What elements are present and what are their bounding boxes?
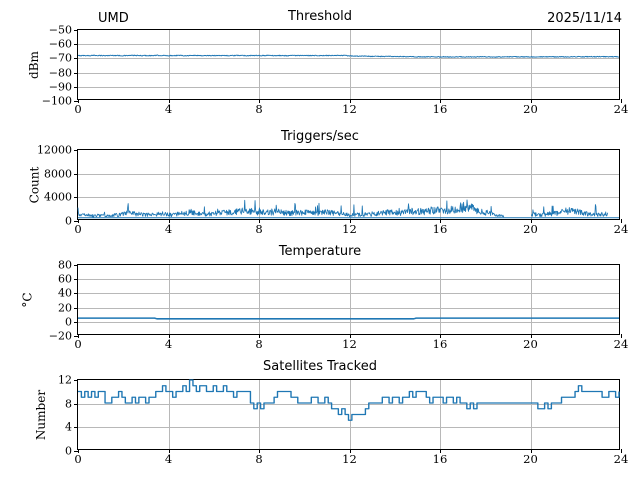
- x-tick-label: 24: [614, 224, 629, 236]
- x-tick-label: 16: [433, 339, 448, 351]
- y-tick-label: −50: [49, 25, 72, 36]
- x-tick-label: 4: [165, 104, 172, 116]
- y-tick-label: −20: [49, 331, 72, 342]
- panel-temperature: Temperature °C−2002040608004812162024: [0, 243, 640, 355]
- x-tick-label: 12: [342, 224, 357, 236]
- x-tick-label: 24: [614, 339, 629, 351]
- x-tick-label: 8: [255, 339, 262, 351]
- data-series: [78, 30, 619, 99]
- y-tick-label: 12000: [37, 145, 72, 156]
- y-axis-label: Count: [27, 166, 41, 203]
- y-tick-label: −70: [49, 53, 72, 64]
- x-tick-label: 0: [74, 224, 81, 236]
- y-tick-label: 4: [65, 422, 72, 433]
- x-tick-label: 20: [523, 104, 538, 116]
- x-tick-label: 4: [165, 454, 172, 466]
- x-tick-label: 12: [342, 454, 357, 466]
- x-tick-label: 4: [165, 339, 172, 351]
- y-tick-label: 12: [58, 375, 72, 386]
- y-tick-label: 8: [65, 398, 72, 409]
- panel-title: Satellites Tracked: [0, 358, 640, 375]
- x-tick-label: 8: [255, 224, 262, 236]
- plot-area: dBm−100−90−80−70−60−5004812162024: [77, 29, 620, 100]
- panel-title: Temperature: [0, 243, 640, 260]
- x-tick-label: 20: [523, 454, 538, 466]
- y-tick-label: 4000: [44, 192, 72, 203]
- y-tick-label: 0: [65, 316, 72, 327]
- y-tick-label: 20: [58, 302, 72, 313]
- x-tick-label: 24: [614, 104, 629, 116]
- x-tick-label: 8: [255, 454, 262, 466]
- x-tick-label: 16: [433, 104, 448, 116]
- data-series: [78, 380, 619, 449]
- x-tick-label: 8: [255, 104, 262, 116]
- x-tick-label: 12: [342, 104, 357, 116]
- x-tick-label: 16: [433, 224, 448, 236]
- y-tick-label: −60: [49, 39, 72, 50]
- y-tick-label: −100: [42, 96, 72, 107]
- x-tick-label: 0: [74, 454, 81, 466]
- y-tick-label: 0: [65, 216, 72, 227]
- data-series: [78, 150, 619, 219]
- x-tick-label: 0: [74, 104, 81, 116]
- y-tick-label: 80: [58, 260, 72, 271]
- y-axis-label: Number: [34, 389, 48, 439]
- x-tick-label: 20: [523, 224, 538, 236]
- plot-area: °C−2002040608004812162024: [77, 264, 620, 335]
- x-tick-label: 4: [165, 224, 172, 236]
- x-tick-label: 12: [342, 339, 357, 351]
- plot-area: Number0481204812162024: [77, 379, 620, 450]
- panel-title: Triggers/sec: [0, 128, 640, 145]
- y-tick-label: 40: [58, 288, 72, 299]
- y-tick-label: 0: [65, 446, 72, 457]
- y-tick-label: 60: [58, 274, 72, 285]
- y-tick-label: −80: [49, 67, 72, 78]
- panel-threshold: Threshold dBm−100−90−80−70−60−5004812162…: [0, 8, 640, 120]
- plot-area: Count0400080001200004812162024: [77, 149, 620, 220]
- y-axis-label: dBm: [27, 51, 41, 79]
- monitoring-figure: UMD 2025/11/14 Threshold dBm−100−90−80−7…: [0, 0, 640, 480]
- x-tick-label: 16: [433, 454, 448, 466]
- panel-triggers: Triggers/sec Count0400080001200004812162…: [0, 128, 640, 240]
- x-tick-label: 0: [74, 339, 81, 351]
- y-axis-label: °C: [21, 292, 35, 307]
- y-tick-label: −90: [49, 81, 72, 92]
- y-tick-label: 8000: [44, 168, 72, 179]
- x-tick-label: 24: [614, 454, 629, 466]
- panel-satellites: Satellites Tracked Number048120481216202…: [0, 358, 640, 470]
- data-series: [78, 265, 619, 334]
- panel-title: Threshold: [0, 8, 640, 25]
- x-tick-label: 20: [523, 339, 538, 351]
